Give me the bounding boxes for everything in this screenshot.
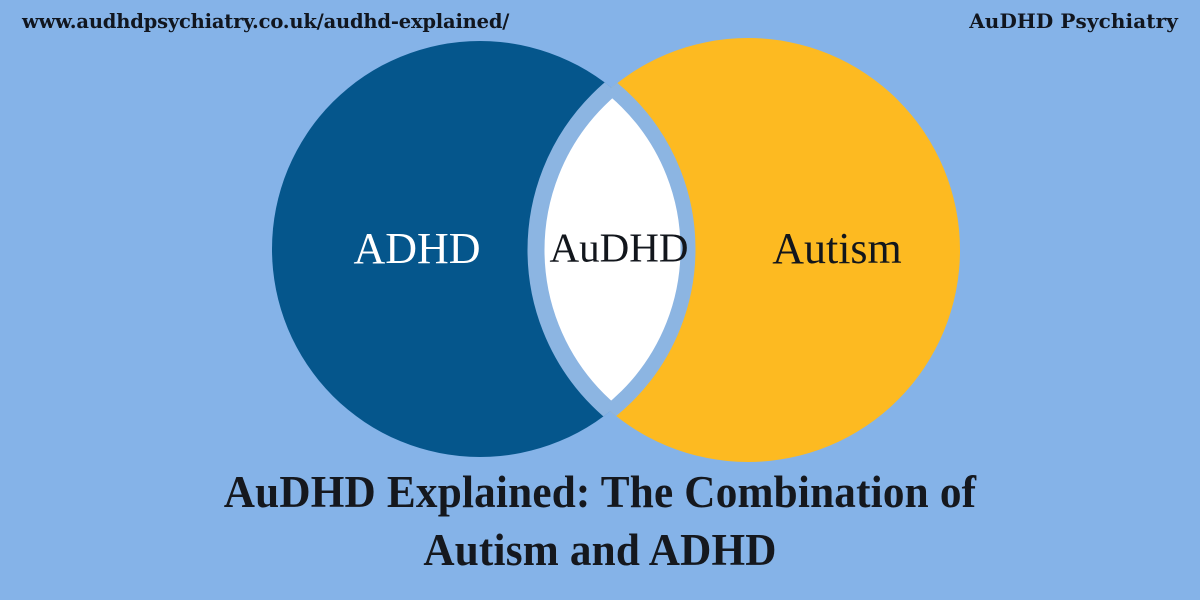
poster-title-line-2: Autism and ADHD <box>24 521 1176 579</box>
venn-label-autism: Autism <box>772 224 902 273</box>
site-url-text: www.audhdpsychiatry.co.uk/audhd-explaine… <box>22 10 509 33</box>
poster-title-line-1: AuDHD Explained: The Combination of <box>24 463 1176 521</box>
header-bar: www.audhdpsychiatry.co.uk/audhd-explaine… <box>0 0 1200 42</box>
venn-label-audhd: AuDHD <box>550 224 689 270</box>
poster-title: AuDHD Explained: The Combination of Auti… <box>0 463 1200 579</box>
brand-name-text: AuDHD Psychiatry <box>969 9 1178 33</box>
poster-canvas: www.audhdpsychiatry.co.uk/audhd-explaine… <box>0 0 1200 600</box>
venn-label-adhd: ADHD <box>353 224 480 273</box>
